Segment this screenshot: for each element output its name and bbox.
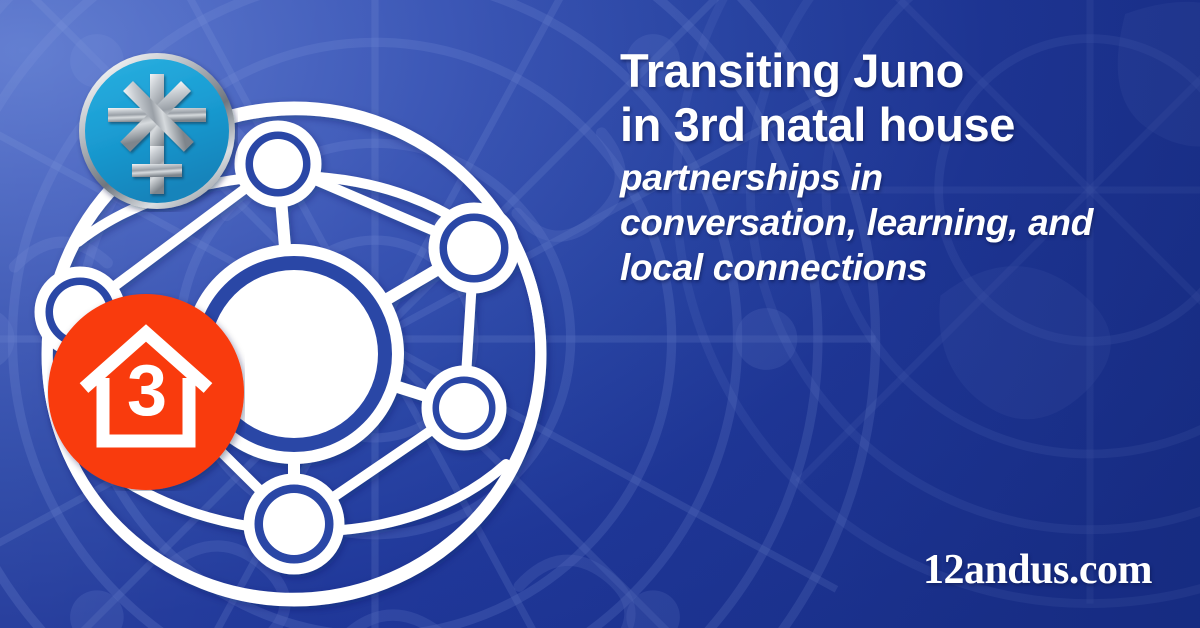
juno-glyph-badge [76, 50, 238, 212]
headline-line-2: in 3rd natal house [620, 98, 1166, 152]
subtitle-line-2: conversation, learning, and [620, 200, 1166, 245]
subtitle: partnerships in conversation, learning, … [620, 155, 1166, 290]
house-number-label: 3 [127, 351, 167, 431]
subtitle-line-3: local connections [620, 245, 1166, 290]
site-url[interactable]: 12andus.com [923, 546, 1152, 594]
share-card: 3 Transiting Juno in 3rd natal house par… [0, 0, 1200, 628]
subtitle-line-1: partnerships in [620, 155, 1166, 200]
house-number-badge: 3 [47, 293, 245, 491]
page-title: Transiting Juno in 3rd natal house [620, 44, 1166, 151]
text-block: Transiting Juno in 3rd natal house partn… [620, 44, 1166, 291]
headline-line-1: Transiting Juno [620, 44, 1166, 98]
